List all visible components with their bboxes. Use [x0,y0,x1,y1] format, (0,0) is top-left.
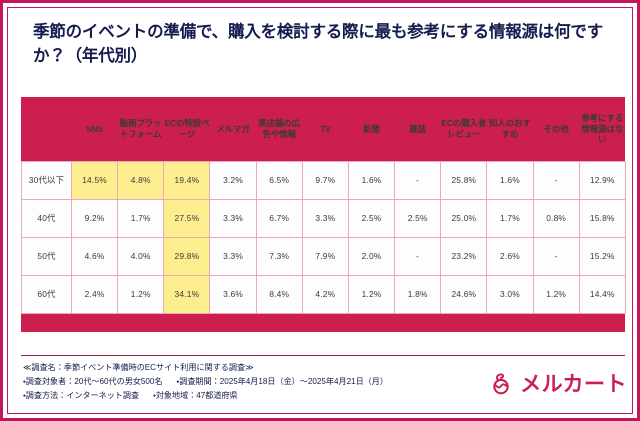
table-body: 30代以下 14.5% 4.8% 19.4% 3.2% 6.5% 9.7% 1.… [22,161,626,313]
footer-survey-region: ・対象地域：47都道府県 [153,389,238,403]
cell-50s-video-platform: 4.0% [118,237,164,275]
cell-60s-store-ads: 8.4% [256,275,302,313]
cell-under30s-newspaper: 1.6% [348,161,394,199]
cell-40s-none: 15.8% [579,199,625,237]
cell-under30s-store-ads: 6.5% [256,161,302,199]
cell-under30s-video-platform: 4.8% [118,161,164,199]
table-header: SNS 動画プラットフォーム ECの特設ページ メルマガ 実店舗の広告や情報 T… [22,97,626,161]
column-header-video-platform: 動画プラットフォーム [118,97,164,161]
column-header-store-ads: 実店舗の広告や情報 [256,97,302,161]
cell-40s-ec-special-page: 27.5% [164,199,210,237]
column-header-newspaper: 新聞 [348,97,394,161]
cell-50s-tv: 7.9% [302,237,348,275]
column-header-mailmagazine: メルマガ [210,97,256,161]
footer-survey-period: ・調査期間：2025年4月18日（金）～2025年4月21日（月） [176,375,387,389]
row-label-50s: 50代 [22,237,72,275]
cell-under30s-sns: 14.5% [72,161,118,199]
infographic-page: 季節のイベントの準備で、購入を検討する際に最も参考にする情報源は何ですか？（年代… [0,0,640,421]
column-header-magazine: 雑誌 [395,97,441,161]
survey-results-table: SNS 動画プラットフォーム ECの特設ページ メルマガ 実店舗の広告や情報 T… [21,97,626,314]
cell-60s-ec-special-page: 34.1% [164,275,210,313]
cell-50s-store-ads: 7.3% [256,237,302,275]
cell-under30s-other: - [533,161,579,199]
cell-50s-ec-special-page: 29.8% [164,237,210,275]
cell-60s-none: 14.4% [579,275,625,313]
cell-40s-store-ads: 6.7% [256,199,302,237]
column-header-none: 参考にする情報源はない [579,97,625,161]
column-header-tv: TV [302,97,348,161]
cell-40s-sns: 9.2% [72,199,118,237]
cell-50s-other: - [533,237,579,275]
table-header-row: SNS 動画プラットフォーム ECの特設ページ メルマガ 実店舗の広告や情報 T… [22,97,626,161]
cell-40s-mailmagazine: 3.3% [210,199,256,237]
cell-40s-magazine: 2.5% [395,199,441,237]
cell-40s-newspaper: 2.5% [348,199,394,237]
cell-60s-newspaper: 1.2% [348,275,394,313]
survey-metadata: ≪調査名：季節イベント準備時のECサイト利用に関する調査≫ ・調査対象者：20代… [23,361,463,403]
column-header-ec-special-page: ECの特設ページ [164,97,210,161]
cell-under30s-none: 12.9% [579,161,625,199]
table-row: 40代 9.2% 1.7% 27.5% 3.3% 6.7% 3.3% 2.5% … [22,199,626,237]
cell-under30s-friend-recommendation: 1.6% [487,161,533,199]
cell-40s-friend-recommendation: 1.7% [487,199,533,237]
cell-50s-newspaper: 2.0% [348,237,394,275]
cell-under30s-ec-special-page: 19.4% [164,161,210,199]
page-title-area: 季節のイベントの準備で、購入を検討する際に最も参考にする情報源は何ですか？（年代… [33,21,613,69]
column-header-sns: SNS [72,97,118,161]
brand-logo: メルカート [488,371,627,397]
cell-40s-ec-reviews: 25.0% [441,199,487,237]
cell-40s-other: 0.8% [533,199,579,237]
cell-60s-friend-recommendation: 3.0% [487,275,533,313]
table-row: 60代 2.4% 1.2% 34.1% 3.6% 8.4% 4.2% 1.2% … [22,275,626,313]
table-row: 30代以下 14.5% 4.8% 19.4% 3.2% 6.5% 9.7% 1.… [22,161,626,199]
cell-60s-sns: 2.4% [72,275,118,313]
cell-under30s-mailmagazine: 3.2% [210,161,256,199]
table-row: 50代 4.6% 4.0% 29.8% 3.3% 7.3% 7.9% 2.0% … [22,237,626,275]
footer-survey-target: ・調査対象者：20代～60代の男女500名 [23,377,162,386]
cell-50s-none: 15.2% [579,237,625,275]
column-header-other: その他 [533,97,579,161]
column-header-friend-recommendation: 知人のおすすめ [487,97,533,161]
row-label-40s: 40代 [22,199,72,237]
cell-50s-ec-reviews: 23.2% [441,237,487,275]
page-title: 季節のイベントの準備で、購入を検討する際に最も参考にする情報源は何ですか？（年代… [33,21,613,69]
cell-60s-ec-reviews: 24.6% [441,275,487,313]
row-label-60s: 60代 [22,275,72,313]
row-label-under30s: 30代以下 [22,161,72,199]
cell-60s-other: 1.2% [533,275,579,313]
cell-under30s-ec-reviews: 25.8% [441,161,487,199]
cell-60s-tv: 4.2% [302,275,348,313]
footer-line-target-period: ・調査対象者：20代～60代の男女500名・調査期間：2025年4月18日（金）… [23,375,463,389]
cell-40s-tv: 3.3% [302,199,348,237]
footer-survey-method: ・調査方法：インターネット調査 [23,391,139,400]
cell-60s-mailmagazine: 3.6% [210,275,256,313]
cart-basket-icon [488,371,514,397]
cell-60s-magazine: 1.8% [395,275,441,313]
brand-name: メルカート [520,374,627,395]
footer-divider [21,355,625,356]
cell-60s-video-platform: 1.2% [118,275,164,313]
footer-line-survey-name: ≪調査名：季節イベント準備時のECサイト利用に関する調査≫ [23,361,463,375]
footer-line-method-region: ・調査方法：インターネット調査・対象地域：47都道府県 [23,389,463,403]
table-corner-header [22,97,72,161]
cell-50s-friend-recommendation: 2.6% [487,237,533,275]
cell-40s-video-platform: 1.7% [118,199,164,237]
column-header-ec-reviews: ECの購入者レビュー [441,97,487,161]
cell-under30s-magazine: - [395,161,441,199]
cell-50s-magazine: - [395,237,441,275]
cell-under30s-tv: 9.7% [302,161,348,199]
cell-50s-mailmagazine: 3.3% [210,237,256,275]
cell-50s-sns: 4.6% [72,237,118,275]
data-table-panel: SNS 動画プラットフォーム ECの特設ページ メルマガ 実店舗の広告や情報 T… [21,97,625,332]
